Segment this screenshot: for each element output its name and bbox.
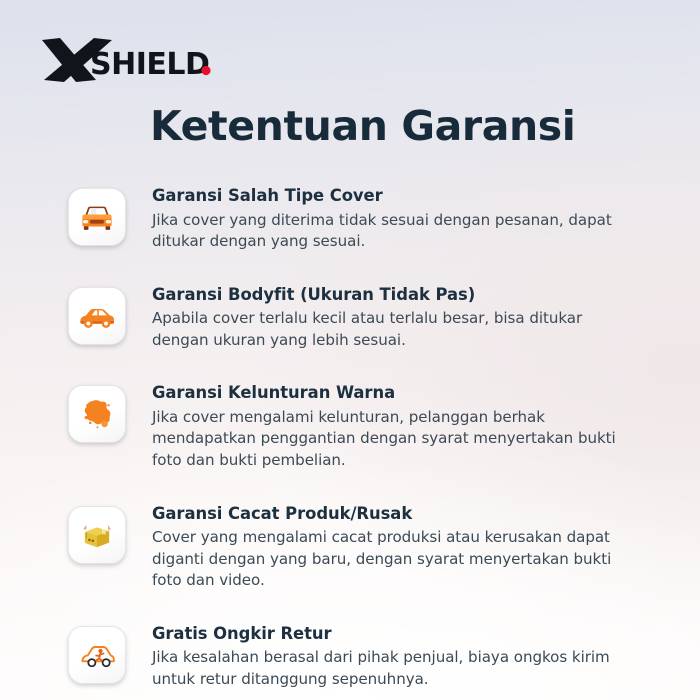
promo-page: SHIELD Ketentuan Garansi <box>0 0 700 700</box>
icon-card <box>68 506 126 564</box>
car-side-icon <box>77 296 117 336</box>
list-item-title: Garansi Salah Tipe Cover <box>152 186 668 207</box>
list-item-text: Garansi Salah Tipe Cover Jika cover yang… <box>152 186 668 253</box>
brand-logo: SHIELD <box>40 36 220 84</box>
icon-card <box>68 385 126 443</box>
list-item-description: Apabila cover terlalu kecil atau terlalu… <box>152 308 634 351</box>
list-item-title: Garansi Bodyfit (Ukuran Tidak Pas) <box>152 285 668 306</box>
list-item-description: Jika kesalahan berasal dari pihak penjua… <box>152 647 634 690</box>
list-item-description: Jika cover yang diterima tidak sesuai de… <box>152 210 634 253</box>
list-item: Gratis Ongkir Retur Jika kesalahan beras… <box>68 624 668 691</box>
list-item: Garansi Kelunturan Warna Jika cover meng… <box>68 383 668 471</box>
car-front-icon <box>77 197 117 237</box>
icon-card <box>68 188 126 246</box>
list-item-title: Garansi Kelunturan Warna <box>152 383 668 404</box>
warranty-terms-list: Garansi Salah Tipe Cover Jika cover yang… <box>68 186 668 690</box>
list-item-text: Gratis Ongkir Retur Jika kesalahan beras… <box>152 624 668 691</box>
list-item-title: Gratis Ongkir Retur <box>152 624 668 645</box>
paint-splatter-icon <box>78 395 116 433</box>
list-item-description: Cover yang mengalami cacat produksi atau… <box>152 527 634 592</box>
list-item-text: Garansi Bodyfit (Ukuran Tidak Pas) Apabi… <box>152 285 668 352</box>
brand-accent-dot <box>201 66 210 75</box>
list-item-title: Garansi Cacat Produk/Rusak <box>152 504 668 525</box>
page-title: Ketentuan Garansi <box>150 103 575 150</box>
xshield-logo-icon: SHIELD <box>40 36 220 84</box>
list-item: Garansi Salah Tipe Cover Jika cover yang… <box>68 186 668 253</box>
damaged-box-icon <box>77 515 117 555</box>
list-item-text: Garansi Cacat Produk/Rusak Cover yang me… <box>152 504 668 592</box>
list-item-description: Jika cover mengalami kelunturan, pelangg… <box>152 407 634 472</box>
list-item-text: Garansi Kelunturan Warna Jika cover meng… <box>152 383 668 471</box>
car-return-shipping-icon <box>77 635 117 675</box>
icon-card <box>68 287 126 345</box>
icon-card <box>68 626 126 684</box>
brand-wordmark: SHIELD <box>90 47 209 82</box>
list-item: Garansi Bodyfit (Ukuran Tidak Pas) Apabi… <box>68 285 668 352</box>
list-item: Garansi Cacat Produk/Rusak Cover yang me… <box>68 504 668 592</box>
